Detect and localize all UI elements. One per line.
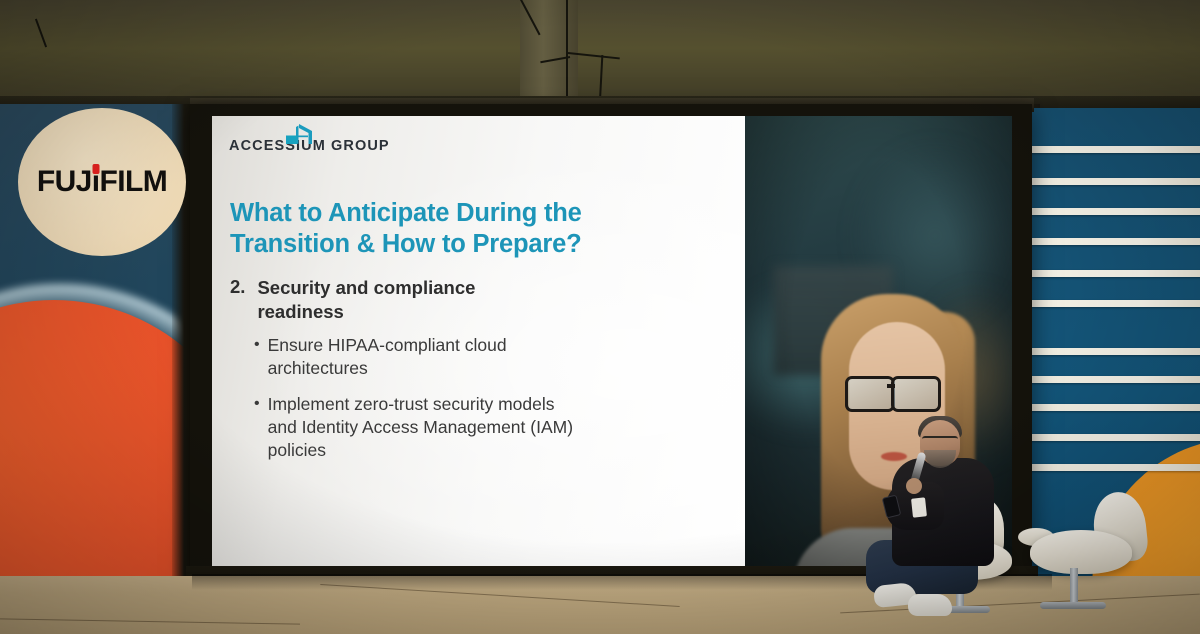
- chair-foot: [1040, 602, 1106, 609]
- accessium-logo: ACCESSIUM GROUP: [229, 138, 390, 154]
- screenshot-root: ACCESSIUM GROUP What to Anticipate Durin…: [0, 0, 1200, 634]
- backdrop-stripe: [1032, 404, 1200, 411]
- bullet-text: Ensure HIPAA-compliant cloud architectur…: [268, 334, 574, 380]
- backdrop-stripe: [1032, 300, 1200, 307]
- backdrop-stripe: [1032, 238, 1200, 245]
- speaker-shoe: [908, 594, 952, 616]
- backdrop-stripe: [1032, 348, 1200, 355]
- fujifilm-watermark: FUJ i FILM: [18, 108, 186, 256]
- bullet-text: Implement zero-trust security models and…: [268, 393, 574, 462]
- speaker-badge: [911, 497, 927, 517]
- fujifilm-i-letter: i: [92, 165, 100, 199]
- slide-numbered-item-text: Security and compliance readiness: [257, 276, 530, 323]
- bullet-glyph: •: [254, 334, 260, 380]
- slide-bullet-list: • Ensure HIPAA-compliant cloud architect…: [254, 334, 574, 462]
- list-item: • Implement zero-trust security models a…: [254, 393, 574, 462]
- backdrop-stripe: [1032, 464, 1200, 471]
- accessium-logo-icon: [279, 122, 319, 148]
- fujifilm-text-part2: FILM: [100, 165, 168, 199]
- bullet-glyph: •: [254, 393, 260, 462]
- fujifilm-wordmark: FUJ i FILM: [37, 165, 167, 199]
- fujifilm-red-dot: [92, 164, 99, 174]
- backdrop-stripe: [1032, 270, 1200, 277]
- chair-stem: [1070, 568, 1078, 606]
- list-item: • Ensure HIPAA-compliant cloud architect…: [254, 334, 574, 380]
- backdrop-stripe: [1032, 208, 1200, 215]
- fujifilm-text-part1: FUJ: [37, 165, 92, 199]
- speaker-person: [862, 412, 1022, 634]
- floor-seam: [0, 618, 300, 624]
- backdrop-stripe: [1032, 146, 1200, 153]
- backdrop-stripe: [1032, 434, 1200, 441]
- backdrop-stripe: [1032, 178, 1200, 185]
- slide-numbered-item-marker: 2.: [230, 276, 245, 323]
- chair-seat: [1030, 530, 1132, 574]
- slide-content-pane: ACCESSIUM GROUP What to Anticipate Durin…: [212, 116, 745, 568]
- speaker-hand: [906, 478, 922, 494]
- slide-title: What to Anticipate During the Transition…: [230, 198, 620, 261]
- speaker-glasses: [922, 436, 958, 446]
- backdrop-stripe: [1032, 376, 1200, 383]
- backdrop-left-circle: [0, 300, 192, 600]
- slide-numbered-item: 2. Security and compliance readiness: [230, 276, 530, 323]
